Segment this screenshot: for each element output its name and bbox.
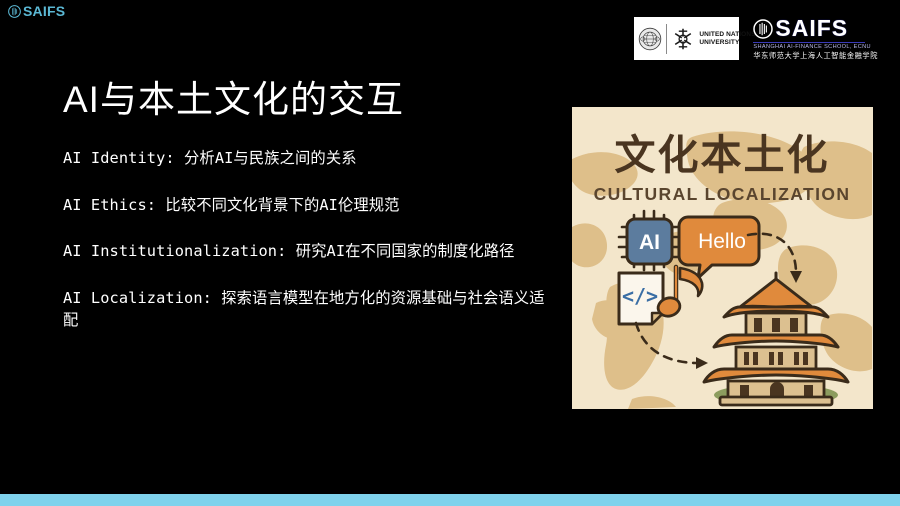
illustration-cultural-localization: 文化本土化 CULTURAL LOCALIZATION xyxy=(572,107,873,409)
hello-bubble-label: Hello xyxy=(698,230,746,253)
list-item: AI Institutionalization: 研究AI在不同国家的制度化路径 xyxy=(63,241,555,263)
ai-chip-label: AI xyxy=(639,231,660,254)
list-item: AI Localization: 探索语言模型在地方化的资源基础与社会语义适配 xyxy=(63,288,555,331)
united-nations-university-logo: UNITED NATIONS UNIVERSITY xyxy=(634,17,739,60)
saifs-subtitle-cn: 华东师范大学上海人工智能金融学院 xyxy=(753,51,878,61)
unu-abstract-mark-icon xyxy=(671,27,695,51)
list-item: AI Ethics: 比较不同文化背景下的AI伦理规范 xyxy=(63,195,555,217)
bullet-list: AI Identity: 分析AI与民族之间的关系 AI Ethics: 比较不… xyxy=(63,148,555,332)
illustration-svg: 文化本土化 CULTURAL LOCALIZATION xyxy=(572,107,873,409)
logo-divider xyxy=(666,24,667,54)
logo-group: UNITED NATIONS UNIVERSITY SAIFS SHANGHAI… xyxy=(634,17,878,61)
illustration-heading-cn: 文化本土化 xyxy=(615,131,830,179)
saifs-subtitle-en: SHANGHAI AI-FINANCE SCHOOL, ECNU xyxy=(753,44,871,51)
saifs-rule xyxy=(753,42,865,43)
un-globe-emblem-icon xyxy=(638,27,662,51)
unu-line-2: UNIVERSITY xyxy=(699,39,755,47)
brand-top-left-label: SAIFS xyxy=(23,4,65,18)
unu-line-1: UNITED NATIONS xyxy=(699,31,755,39)
saifs-logo-top: SAIFS xyxy=(753,17,848,40)
slide-canvas: SAIFS UNITED NATI xyxy=(0,0,900,506)
page-title: AI与本土文化的交互 xyxy=(63,69,404,123)
saifs-wordmark: SAIFS xyxy=(775,17,848,40)
unu-wordmark: UNITED NATIONS UNIVERSITY xyxy=(699,31,755,47)
code-file-icon: </> xyxy=(619,273,663,324)
list-item: AI Identity: 分析AI与民族之间的关系 xyxy=(63,148,555,170)
brand-top-left: SAIFS xyxy=(8,4,65,18)
saifs-circle-emblem-icon xyxy=(8,5,21,18)
illustration-heading-en: CULTURAL LOCALIZATION xyxy=(594,184,851,204)
bottom-accent-bar xyxy=(0,494,900,506)
saifs-circle-emblem-icon xyxy=(753,19,773,39)
code-file-label: </> xyxy=(622,284,658,308)
saifs-logo: SAIFS SHANGHAI AI-FINANCE SCHOOL, ECNU 华… xyxy=(753,17,878,61)
